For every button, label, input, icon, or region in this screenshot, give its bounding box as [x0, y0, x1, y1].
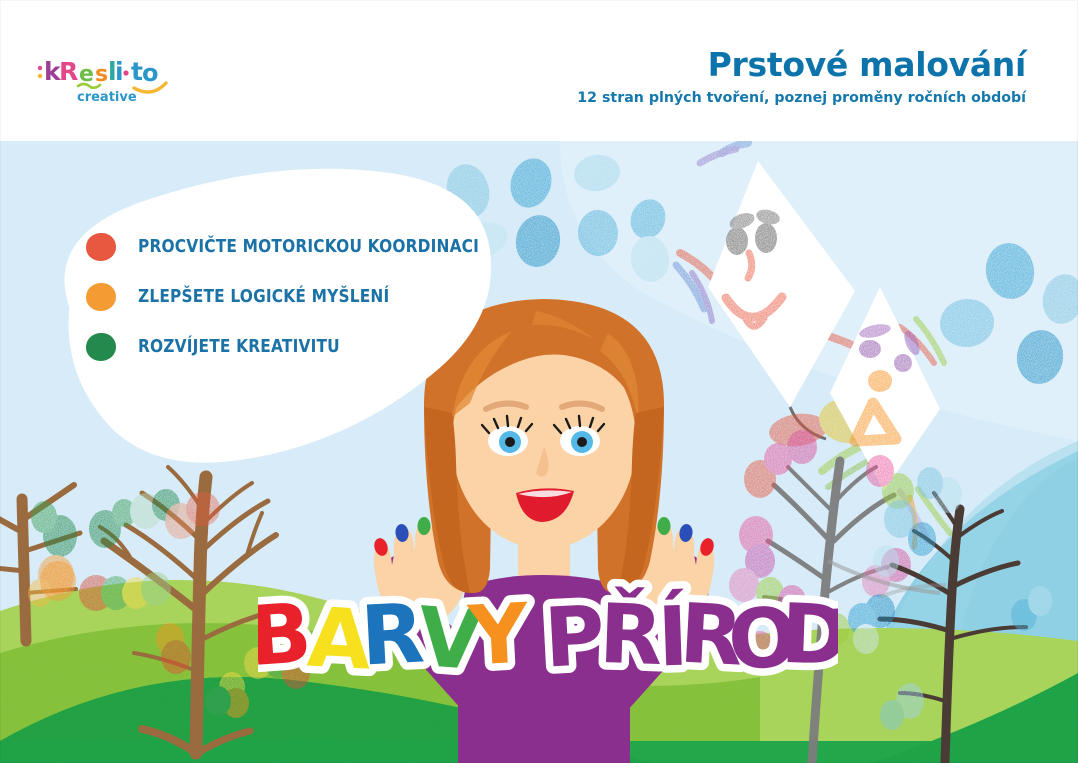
benefits-list: PROCVIČTE MOTORICKOU KOORDINACI ZLEPŠETE…	[86, 222, 526, 372]
main-title-art: B A R V Y P Ř Í R O D Y B	[258, 571, 838, 691]
page-title: Prstové malování	[577, 48, 1026, 83]
cover-illustration: PROCVIČTE MOTORICKOU KOORDINACI ZLEPŠETE…	[0, 141, 1078, 763]
fingerprint-dot-orange	[86, 283, 116, 311]
page-subtitle: 12 stran plných tvoření, poznej proměny …	[577, 90, 1026, 106]
svg-text:D: D	[779, 587, 838, 684]
svg-text:Ř: Ř	[598, 585, 665, 684]
benefit-label-2: ZLEPŠETE LOGICKÉ MYŠLENÍ	[138, 287, 389, 307]
fingerprint-dot-red	[86, 233, 116, 261]
svg-text:Y: Y	[465, 586, 532, 684]
header-text-block: Prstové malování 12 stran plných tvoření…	[577, 48, 1026, 106]
main-title-letters: B A R V Y P Ř Í R O D Y	[258, 585, 838, 689]
cover-header: k R e s l i t o creative Prstové malován…	[0, 0, 1078, 141]
benefit-item-2: ZLEPŠETE LOGICKÉ MYŠLENÍ	[86, 272, 526, 322]
book-cover: PROCVIČTE MOTORICKOU KOORDINACI ZLEPŠETE…	[0, 0, 1078, 763]
benefit-item-3: ROZVÍJETE KREATIVITU	[86, 322, 526, 372]
benefit-label-1: PROCVIČTE MOTORICKOU KOORDINACI	[138, 237, 479, 257]
fingerprint-dot-green	[86, 333, 116, 361]
brand-logo[interactable]: k R e s l i t o creative	[34, 52, 174, 106]
svg-text:i: i	[115, 57, 124, 86]
benefit-item-1: PROCVIČTE MOTORICKOU KOORDINACI	[86, 222, 526, 272]
main-title: B A R V Y P Ř Í R O D Y B	[258, 571, 838, 691]
logo-tagline: creative	[77, 90, 137, 105]
svg-text:s: s	[95, 62, 108, 87]
svg-text:R: R	[59, 57, 78, 86]
kreslito-logo-icon: k R e s l i t o creative	[34, 52, 174, 106]
svg-text:o: o	[142, 59, 159, 87]
benefit-label-3: ROZVÍJETE KREATIVITU	[138, 337, 340, 357]
